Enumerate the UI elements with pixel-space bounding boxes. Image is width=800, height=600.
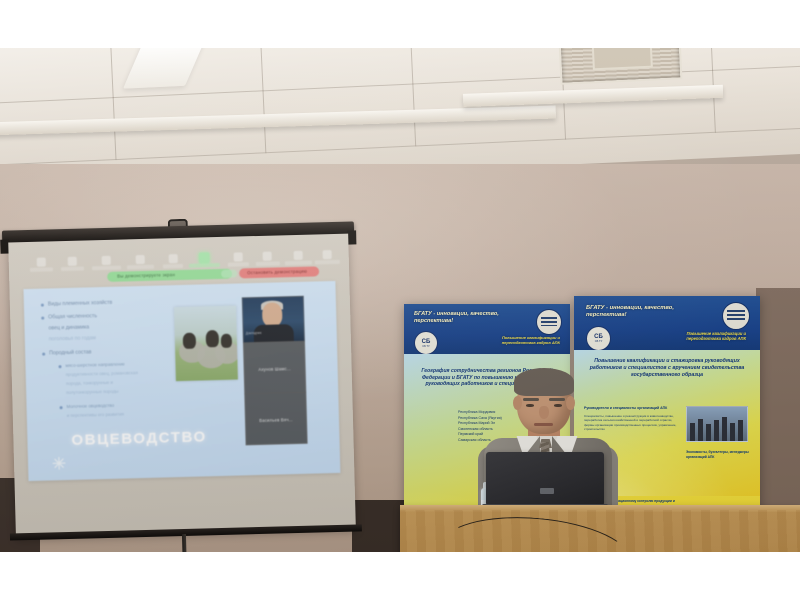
slide-subbullet: и перспективы его развития: [67, 412, 124, 418]
screen-canvas: Вы демонстрируете экран Остановить демон…: [8, 234, 356, 538]
share-screen-icon[interactable]: [199, 252, 210, 263]
laptop-logo: [540, 488, 554, 494]
university-emblem: [536, 309, 562, 335]
participant-tile[interactable]: Васильев Вяч...: [244, 392, 307, 446]
participant-tile[interactable]: Ахунов Шамс...: [243, 341, 306, 395]
apps-icon[interactable]: [294, 251, 303, 260]
slide-bullet: Виды племенных хозяйств: [48, 300, 113, 308]
record-icon[interactable]: [234, 252, 243, 261]
podium-table: [400, 510, 800, 552]
slide-subbullet: мясо-шерстное направление: [65, 361, 124, 368]
banner-right-subheader: Повышение квалификации и переподготовка …: [658, 332, 746, 342]
slide-subbullet: порода, тонкорунные и: [66, 380, 113, 386]
hvac-ceiling-diffuser: [558, 48, 682, 85]
speaker-eye-left: [526, 404, 534, 407]
speaker-ear-right: [566, 396, 575, 410]
banner-right-section: Экономисты, бухгалтеры, менеджеры органи…: [686, 450, 752, 459]
slide-subbullet: продуктивности овец, романовская: [66, 370, 138, 377]
certification-seal: СБ СБ ТУ: [414, 331, 438, 355]
presentation-slide: Виды племенных хозяйств Общая численност…: [23, 281, 340, 481]
participants-icon[interactable]: [136, 255, 145, 264]
slide-subbullet: Молочное овцеводство: [66, 403, 114, 409]
participant-tile-video[interactable]: Докладчик: [242, 296, 305, 344]
laptop-screen: [486, 452, 604, 506]
microphone-icon[interactable]: [37, 258, 46, 267]
projected-application: Вы демонстрируете экран Остановить демон…: [22, 240, 341, 520]
banner-right-header: БГАТУ - инновации, качество, перспектива…: [586, 305, 716, 319]
speaker-nose: [539, 406, 549, 419]
participant-name: Ахунов Шамс...: [245, 366, 305, 373]
screen-end-cap-right: [347, 230, 356, 244]
security-icon[interactable]: [102, 256, 111, 265]
university-emblem: [722, 302, 750, 330]
banner-left-subheader: Повышение квалификации и переподготовка …: [480, 336, 560, 346]
more-icon[interactable]: [323, 250, 332, 259]
sheep-photo: [174, 306, 238, 382]
screenshot-canvas: БГАТУ - инновации, качество, перспектива…: [0, 0, 800, 600]
seal-subtext: СБ ТУ: [595, 340, 603, 343]
speaker-ear-left: [513, 396, 522, 410]
projector-screen: Вы демонстрируете экран Остановить демон…: [2, 221, 362, 545]
slide-bullet: овец и динамика: [48, 324, 89, 331]
seal-subtext: СБ ТУ: [422, 345, 430, 348]
camera-icon[interactable]: [68, 257, 77, 266]
chat-icon[interactable]: [169, 254, 178, 263]
reactions-icon[interactable]: [263, 252, 272, 261]
participant-name: Васильев Вяч...: [246, 417, 306, 424]
participant-face: [262, 302, 283, 327]
banner-left-header: БГАТУ - инновации, качество, перспектива…: [414, 311, 538, 325]
banner-right-photo: [686, 406, 748, 442]
participant-caption: Докладчик: [246, 331, 262, 335]
snowflake-logo: [52, 456, 66, 470]
sharing-controls[interactable]: [221, 270, 237, 278]
speaker-hair: [514, 368, 574, 396]
speaker-mouth: [534, 423, 553, 426]
slide-bullet: Породный состав: [49, 349, 91, 356]
slide-bullet: поголовья по годам: [49, 335, 96, 342]
slide-bullet: Общая численность: [48, 313, 97, 320]
slide-subbullet: полутонкорунные породы: [66, 389, 118, 395]
conference-photo: БГАТУ - инновации, качество, перспектива…: [0, 48, 800, 552]
speaker-eye-right: [554, 404, 562, 407]
certification-seal: СБ СБ ТУ: [586, 326, 611, 351]
slide-title: ОВЦЕВОДСТВО: [71, 428, 207, 449]
